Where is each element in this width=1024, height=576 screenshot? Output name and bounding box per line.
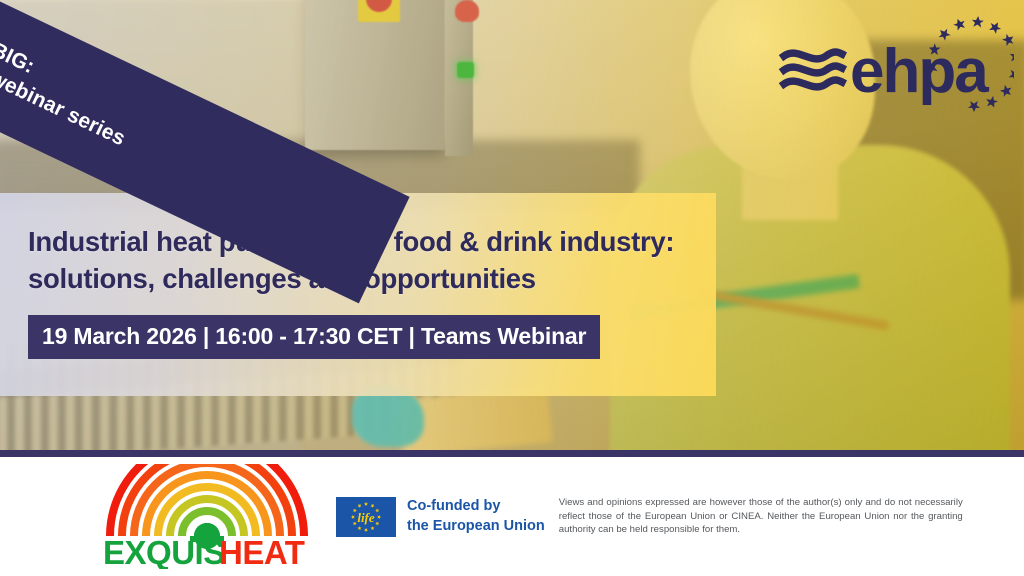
hero-photo-area: Heat BIG: EHPA webinar series <box>0 0 1024 450</box>
exquisheat-text-red: HEAT <box>219 534 305 569</box>
ehpa-waves-icon <box>784 52 842 87</box>
ribbon-line-1: Heat BIG: <box>0 16 38 78</box>
eu-flag-life-icon: life <box>336 497 396 537</box>
ehpa-wordmark: ehpa <box>850 37 989 106</box>
footer: EXQUIS HEAT <box>0 457 1024 576</box>
eu-funding-block: life Co-funded by the European Union <box>336 497 545 537</box>
life-wordmark: life <box>357 510 375 525</box>
exquisheat-text-green: EXQUIS <box>103 534 225 569</box>
ehpa-logo[interactable]: ehpa <box>778 12 1014 120</box>
exquisheat-logo[interactable]: EXQUIS HEAT <box>95 464 320 569</box>
eu-funding-text: Co-funded by the European Union <box>407 497 545 536</box>
eu-funding-line-2: the European Union <box>407 518 545 534</box>
headline-line-2: solutions, challenges and opportunities <box>28 263 536 294</box>
eu-funding-line-1: Co-funded by <box>407 498 500 514</box>
eu-disclaimer-text: Views and opinions expressed are however… <box>559 496 963 537</box>
webinar-promo-graphic: Heat BIG: EHPA webinar series <box>0 0 1024 576</box>
date-time-badge: 19 March 2026 | 16:00 - 17:30 CET | Team… <box>28 315 600 359</box>
navy-divider <box>0 450 1024 457</box>
